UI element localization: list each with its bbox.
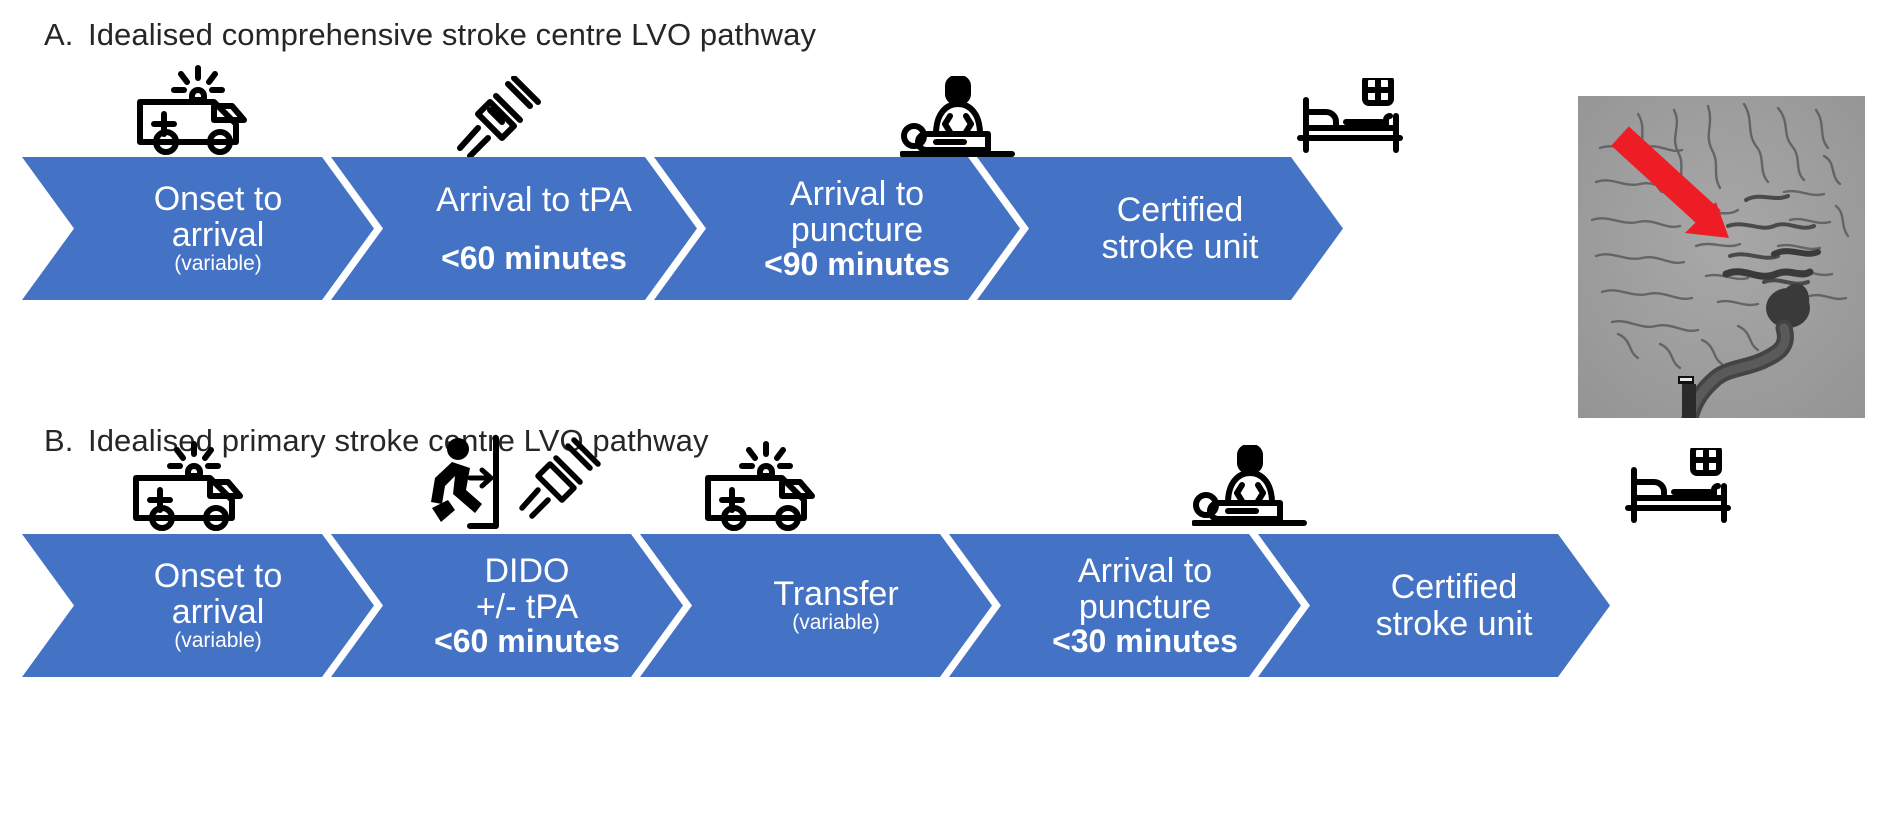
syringe-icon [456,76,542,158]
step-line-3: (variable) [68,253,368,275]
step-line-2: <60 minutes [377,242,691,276]
step-line-2: stroke unit [1023,229,1337,265]
step-arrival-to-puncture-b[interactable]: Arrival to puncture <30 minutes [949,534,1301,677]
step-onset-to-arrival-a[interactable]: Onset to arrival (variable) [22,157,374,300]
ambulance-icon [126,64,250,156]
step-arrival-to-puncture-a[interactable]: Arrival to puncture <90 minutes [654,157,1020,300]
step-line-3: <30 minutes [995,625,1295,659]
step-line-2: arrival [68,594,368,630]
step-line-2: (variable) [686,612,986,634]
step-label-group: Certified stroke unit [1258,569,1610,641]
step-line-1: Arrival to tPA [377,182,691,218]
ambulance-icon [122,440,246,532]
step-label-group: Transfer (variable) [640,576,992,634]
step-line-3: (variable) [68,630,368,652]
step-line-1: Onset to [68,181,368,217]
step-label-group: Onset to arrival (variable) [22,558,374,652]
panel-a-title: A.Idealised comprehensive stroke centre … [44,17,816,53]
step-label-group: Arrival to puncture <90 minutes [654,176,1020,282]
step-label-group: Arrival to puncture <30 minutes [949,553,1301,659]
step-line-1: Arrival to [700,176,1014,212]
step-line-2: puncture [995,589,1295,625]
step-line-2: stroke unit [1304,606,1604,642]
surgery-icon [900,76,1018,158]
cerebral-angiogram [1578,96,1865,418]
step-label-group: DIDO +/- tPA <60 minutes [331,553,683,659]
step-line-1: Transfer [686,576,986,612]
step-line-1: DIDO [377,553,677,589]
step-line-3: <90 minutes [700,248,1014,282]
ambulance-icon [694,440,818,532]
step-transfer-b[interactable]: Transfer (variable) [640,534,992,677]
surgery-icon [1192,445,1310,527]
step-onset-to-arrival-b[interactable]: Onset to arrival (variable) [22,534,374,677]
panel-a-letter: A. [44,17,88,53]
step-line-2: +/- tPA [377,589,677,625]
panel-b-letter: B. [44,423,88,459]
step-line-1: Arrival to [995,553,1295,589]
panel-a-title-text: Idealised comprehensive stroke centre LV… [88,17,816,52]
step-dido-tpa-b[interactable]: DIDO +/- tPA <60 minutes [331,534,683,677]
step-line-1: Certified [1304,569,1604,605]
hospital-bed-icon [1296,78,1404,158]
door-in-door-out-syringe-icon [408,432,608,536]
step-line-2: puncture [700,212,1014,248]
step-label-group: Certified stroke unit [977,192,1343,264]
step-certified-stroke-unit-b[interactable]: Certified stroke unit [1258,534,1610,677]
step-arrival-to-tpa-a[interactable]: Arrival to tPA <60 minutes [331,157,697,300]
step-label-group: Arrival to tPA <60 minutes [331,182,697,276]
step-line-3: <60 minutes [377,625,677,659]
step-certified-stroke-unit-a[interactable]: Certified stroke unit [977,157,1343,300]
step-line-2: arrival [68,217,368,253]
step-label-group: Onset to arrival (variable) [22,181,374,275]
step-line-1: Certified [1023,192,1337,228]
step-line-1: Onset to [68,558,368,594]
hospital-bed-icon [1624,448,1732,528]
